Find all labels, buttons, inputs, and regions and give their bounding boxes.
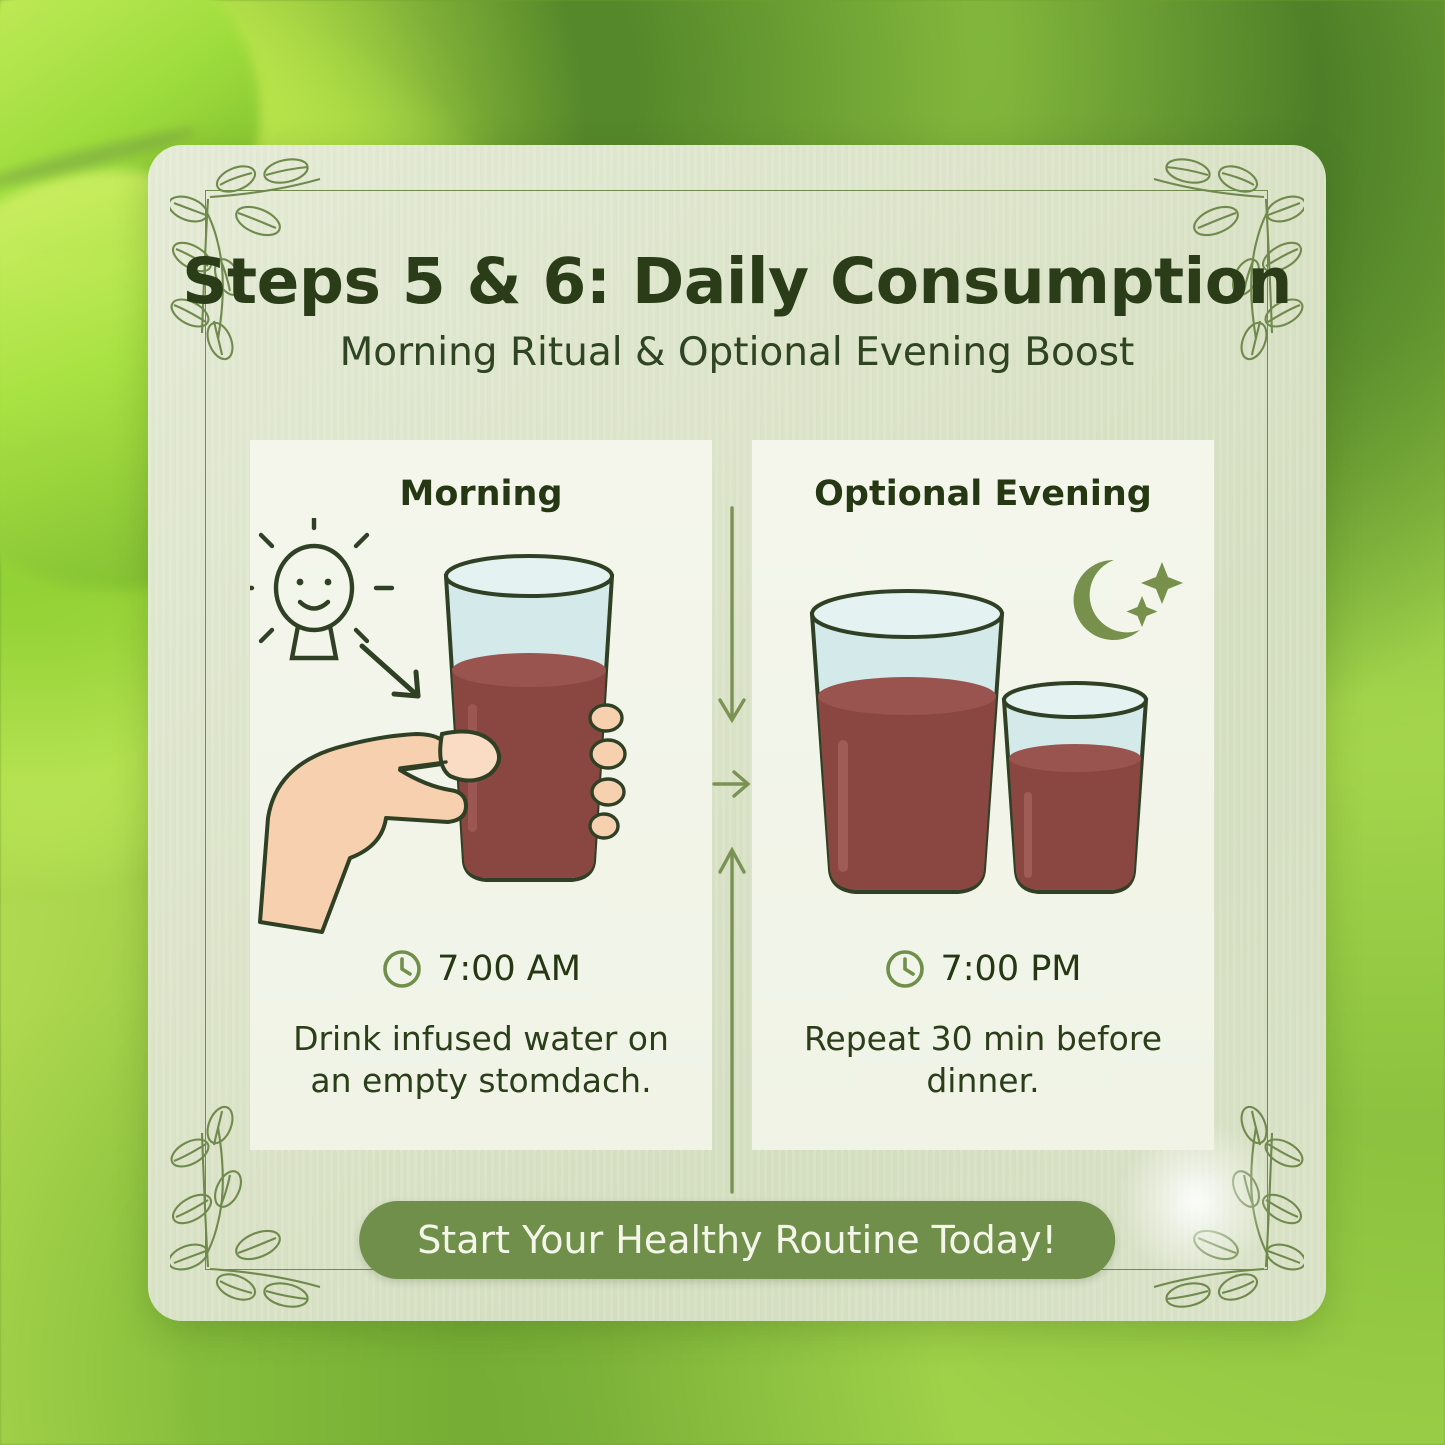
cta-button[interactable]: Start Your Healthy Routine Today! (359, 1201, 1115, 1279)
infographic-panel: Steps 5 & 6: Daily Consumption Morning R… (148, 145, 1326, 1321)
crescent-moon-stars-icon (1074, 560, 1183, 640)
sun-smiling-icon (250, 518, 392, 658)
small-glass-icon (1004, 683, 1146, 892)
morning-time-row: 7:00 AM (250, 948, 712, 990)
card-morning[interactable]: Morning (250, 440, 712, 1150)
connector-arrows (712, 500, 752, 1200)
evening-description: Repeat 30 min before dinner. (774, 1018, 1192, 1102)
morning-description: Drink infused water on an empty stomdach… (272, 1018, 690, 1102)
clock-icon (381, 948, 423, 990)
evening-time-label: 7:00 PM (940, 949, 1081, 989)
card-heading-morning: Morning (250, 474, 712, 514)
large-glass-icon (812, 591, 1002, 892)
morning-illustration (250, 518, 712, 938)
page-subtitle: Morning Ritual & Optional Evening Boost (148, 330, 1326, 375)
clock-icon (884, 948, 926, 990)
arrow-right-icon (714, 772, 748, 796)
evening-illustration (752, 518, 1214, 938)
hand-holding-glass-icon (260, 556, 625, 932)
arrow-down-right-icon (362, 646, 418, 696)
arrow-up-icon (720, 850, 744, 1192)
arrow-down-icon (720, 508, 744, 720)
card-heading-evening: Optional Evening (752, 474, 1214, 514)
morning-time-label: 7:00 AM (437, 949, 581, 989)
page-title: Steps 5 & 6: Daily Consumption (148, 245, 1326, 318)
card-evening[interactable]: Optional Evening (752, 440, 1214, 1150)
evening-time-row: 7:00 PM (752, 948, 1214, 990)
